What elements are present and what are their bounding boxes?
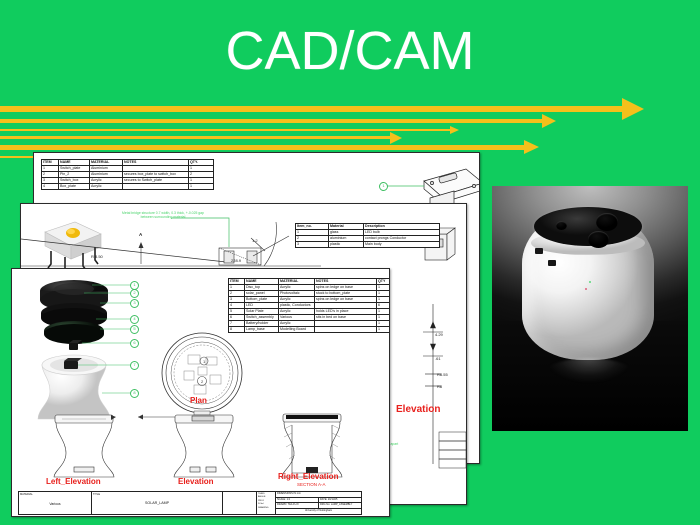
balloon-callout-5: 5: [130, 325, 139, 334]
lamp-parts-table: ITEM NAME MATERIAL NOTES QTY 1Disc_topAc…: [228, 278, 390, 333]
titleblock-material: MATERIAL Various: [19, 492, 92, 514]
cell-material: plastic, Conductors: [279, 303, 315, 309]
dim-228-9: 228.9: [231, 258, 241, 263]
note-metal-bridge: Metal bridge structure 0.7 width, 0.3 th…: [117, 211, 209, 220]
dim-1-2: 1.2: [252, 238, 258, 243]
lamp-product: [522, 210, 654, 360]
lamp-vent-slots: [575, 254, 604, 256]
balloon-callout-1: 1: [379, 182, 388, 191]
balloon-callout-7: 7: [130, 361, 139, 370]
svg-text:2: 2: [201, 379, 204, 384]
table-row: 8Lamp_baseModelling Board1: [229, 327, 391, 333]
view-label-elevation: Elevation: [178, 477, 214, 486]
balloon-callout-2: 2: [130, 289, 139, 298]
table-row: 3plasticMain body: [296, 242, 440, 248]
balloon-callout-6: 6: [130, 339, 139, 348]
cell-item: 8: [229, 327, 245, 333]
balloon-callout-4: 4: [130, 315, 139, 324]
section-note-aa: SECTION A-A: [297, 482, 326, 487]
dim-4-29: 4.29: [435, 332, 443, 337]
section-mark-a: A: [139, 232, 142, 237]
view-label-right-elevation: Right_Elevation: [278, 472, 338, 481]
slide-canvas: CAD/CAM: [0, 0, 700, 525]
cell-material: Modelling Board: [279, 327, 315, 333]
lamp-tab-left: [535, 248, 543, 254]
titleblock: MATERIAL Various TITLE SOLAR_LAMP THIRD …: [18, 491, 362, 515]
lamp-hole-small: [556, 221, 567, 230]
view-label-plan: Plan: [190, 396, 207, 405]
cell-notes: [315, 327, 377, 333]
cell-qty: 1: [377, 327, 391, 333]
page-title: CAD/CAM: [0, 22, 700, 80]
view-label-elevation-mid: Elevation: [396, 404, 440, 415]
dim-061: .61: [435, 356, 441, 361]
titleblock-projection: THIRD ANGLE PROJ N 3rd DRAWING: [257, 492, 276, 514]
dim-r8: R8: [437, 384, 442, 389]
sheet-lamp-assembly[interactable]: 1 2: [11, 268, 390, 517]
balloon-callout-8: 8: [130, 389, 139, 398]
arrow-group: [0, 88, 700, 150]
svg-text:1: 1: [203, 359, 206, 364]
lamp-hole-mid: [588, 231, 609, 248]
led-parts-table: Item_no. Material Description 1glassLED …: [295, 223, 440, 248]
dim-r855: R8.55: [437, 372, 448, 377]
titleblock-spacer: [223, 492, 257, 514]
cell-description: Main body: [364, 242, 440, 248]
cell-item-no: 3: [296, 242, 329, 248]
lamp-tab-lower: [548, 260, 556, 266]
cell-material: plastic: [329, 242, 364, 248]
balloon-callout-3: 3: [130, 299, 139, 308]
view-label-left-elevation: Left_Elevation: [46, 477, 101, 486]
solar-lamp-3d-render[interactable]: [492, 186, 688, 431]
dim-r850: R 8.50: [91, 254, 103, 259]
cell-name: Switch_assembly: [245, 315, 279, 321]
titleblock-title: TITLE SOLAR_LAMP: [92, 492, 223, 514]
lamp-reflection: [534, 358, 644, 410]
cell-name: Lamp_base: [245, 327, 279, 333]
titleblock-fields: DIMENSIONS IN mm SCALE: 1:2 DATE: 20/11/…: [276, 492, 361, 514]
